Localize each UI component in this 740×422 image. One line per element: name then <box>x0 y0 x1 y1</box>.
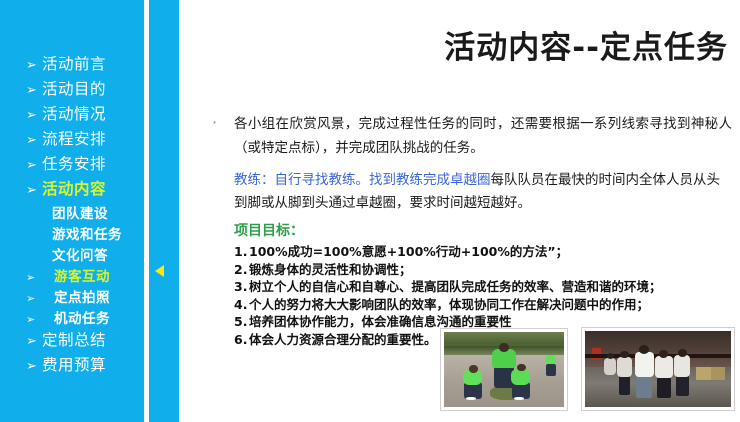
sidebar-item-label: 活动前言 <box>42 52 106 74</box>
sidebar-item-label: 团队建设 <box>52 202 108 222</box>
goal-number: 6. <box>234 331 249 349</box>
chevron-right-icon: ➢ <box>26 184 42 197</box>
photo-person-4-shirt <box>617 357 632 377</box>
chevron-right-icon: ➢ <box>26 59 42 72</box>
page-title: 活动内容--定点任务 <box>200 22 728 67</box>
indoor-team-activity-photo <box>582 328 734 410</box>
goal-number: 5. <box>234 313 249 331</box>
photo-person-far-pants <box>546 364 556 376</box>
goal-text: 锻炼身体的灵活性和协调性； <box>249 262 412 277</box>
slide-content: · 各小组在欣赏风景，完成过程性任务的同时，还需要根据一系列线索寻找到神秘人（或… <box>212 112 732 348</box>
photo-person-1-pants <box>636 375 652 398</box>
photo-person-2-pants <box>657 377 672 398</box>
photo-person-3-shirt <box>674 355 690 376</box>
sidebar-item-feiyongyusuan[interactable]: ➢ 费用预算 <box>0 353 144 378</box>
goal-text: 树立个人的自信心和自尊心、提高团队完成任务的效率、营造和谐的环境； <box>249 279 662 294</box>
paragraph-1: 各小组在欣赏风景，完成过程性任务的同时，还需要根据一系列线索寻找到神秘人（或特定… <box>234 112 732 160</box>
sidebar-item-huodongqianyan[interactable]: ➢ 活动前言 <box>0 52 144 77</box>
photo-person-right-shirt <box>511 369 530 385</box>
photo-person-right-head <box>517 364 525 372</box>
photo-person-1-head <box>639 345 649 353</box>
sidebar-subitem-tuanduijianshe[interactable]: 团队建设 <box>0 202 144 223</box>
chevron-right-icon: ➢ <box>26 314 54 325</box>
chevron-right-icon: ➢ <box>26 159 42 172</box>
sidebar-item-label: 定制总结 <box>42 328 106 350</box>
photo-scene <box>585 331 731 407</box>
goal-text: 体会人力资源合理分配的重要性。 <box>249 332 437 347</box>
sidebar-item-dingzhizongjie[interactable]: ➢ 定制总结 <box>0 328 144 353</box>
sidebar-subitem-youxiherenwu[interactable]: 游戏和任务 <box>0 223 144 244</box>
chevron-right-icon: ➢ <box>26 84 42 97</box>
sidebar-item-label: 游戏和任务 <box>52 223 122 243</box>
goal-number: 4. <box>234 296 249 314</box>
goal-text: 培养团体协作能力，体会准确信息沟通的重要性 <box>249 314 512 329</box>
photo-person-2-head <box>659 350 668 358</box>
photo-person-standing-head <box>499 343 509 351</box>
photo-person-far-shirt <box>545 355 556 365</box>
sidebar-item-label: 文化问答 <box>52 244 108 264</box>
sidebar-item-label: 游客互动 <box>54 265 110 285</box>
sidebar-subitem-wenhuawenda[interactable]: 文化问答 <box>0 244 144 265</box>
goal-item: 2.锻炼身体的灵活性和协调性； <box>234 261 732 279</box>
photo-shoe-right <box>514 397 525 400</box>
photo-person-3-pants <box>676 375 689 396</box>
sidebar-item-label: 活动内容 <box>42 177 106 199</box>
goal-number: 1. <box>234 243 249 261</box>
slide-root: ➢ 活动前言 ➢ 活动目的 ➢ 活动情况 ➢ 流程安排 ➢ 任务安排 ➢ 活动内… <box>0 0 740 422</box>
paragraph-1-row: · 各小组在欣赏风景，完成过程性任务的同时，还需要根据一系列线索寻找到神秘人（或… <box>212 112 732 160</box>
goal-number: 2. <box>234 261 249 279</box>
goal-text: 个人的努力将大大影响团队的效率，体现协同工作在解决问题中的作用； <box>249 297 649 312</box>
sidebar-subitem-dingdianpaizhao[interactable]: ➢ 定点拍照 <box>0 286 144 307</box>
chevron-right-icon: ➢ <box>26 360 42 373</box>
sidebar-item-label: 流程安排 <box>42 127 106 149</box>
goal-item: 4.个人的努力将大大影响团队的效率，体现协同工作在解决问题中的作用； <box>234 296 732 314</box>
photo-chair-1 <box>696 367 711 379</box>
paragraph-2: 教练：自行寻找教练。找到教练完成卓越圈每队队员在最快的时间内全体人员从头到脚或从… <box>212 169 732 215</box>
photo-person-4-pants <box>619 374 631 395</box>
chevron-right-icon: ➢ <box>26 272 54 283</box>
sidebar-item-label: 费用预算 <box>42 353 106 375</box>
photo-person-3-head <box>678 349 687 357</box>
photo-chair-2 <box>711 367 726 379</box>
sidebar-nav-list: ➢ 活动前言 ➢ 活动目的 ➢ 活动情况 ➢ 流程安排 ➢ 任务安排 ➢ 活动内… <box>0 52 144 378</box>
sidebar-subitem-jidongrenwu[interactable]: ➢ 机动任务 <box>0 307 144 328</box>
goals-heading: 项目目标： <box>212 221 732 241</box>
sidebar-accent-strip <box>149 0 179 422</box>
sidebar-item-renwuanpai[interactable]: ➢ 任务安排 <box>0 152 144 177</box>
goal-item: 1.100%成功=100%意愿+100%行动+100%的方法”； <box>234 243 732 261</box>
photo-person-4-head <box>620 351 629 359</box>
outdoor-team-activity-photo <box>441 329 567 410</box>
chevron-right-icon: ➢ <box>26 109 42 122</box>
photo-scene <box>444 332 564 407</box>
sidebar-item-liuchenganpai[interactable]: ➢ 流程安排 <box>0 127 144 152</box>
sidebar-item-label: 机动任务 <box>54 307 110 327</box>
goal-text: 100%成功=100%意愿+100%行动+100%的方法”； <box>249 244 568 259</box>
chevron-right-icon: ➢ <box>26 134 42 147</box>
photo-shoe-left <box>466 397 477 400</box>
left-triangle-icon <box>155 265 164 277</box>
bullet-dot-icon: · <box>212 112 234 134</box>
photo-person-left-head <box>469 365 477 373</box>
sidebar-subitem-youkehudong[interactable]: ➢ 游客互动 <box>0 265 144 286</box>
sidebar-item-huodongneirong[interactable]: ➢ 活动内容 <box>0 177 144 202</box>
photo-person-5-shirt <box>604 358 616 375</box>
goal-number: 3. <box>234 278 249 296</box>
sidebar-item-huodongqingkuang[interactable]: ➢ 活动情况 <box>0 102 144 127</box>
sidebar-item-label: 活动目的 <box>42 77 106 99</box>
photo-person-2-shirt <box>655 356 673 378</box>
paragraph-2-highlight: 教练：自行寻找教练。找到教练完成卓越圈 <box>234 172 491 188</box>
sidebar-item-huodongmude[interactable]: ➢ 活动目的 <box>0 77 144 102</box>
sidebar-item-label: 任务安排 <box>42 152 106 174</box>
chevron-right-icon: ➢ <box>26 293 54 304</box>
chevron-right-icon: ➢ <box>26 335 42 348</box>
goal-item: 3.树立个人的自信心和自尊心、提高团队完成任务的效率、营造和谐的环境； <box>234 278 732 296</box>
sidebar-item-label: 定点拍照 <box>54 286 110 306</box>
photo-person-1-shirt <box>635 352 654 377</box>
sidebar-item-label: 活动情况 <box>42 102 106 124</box>
